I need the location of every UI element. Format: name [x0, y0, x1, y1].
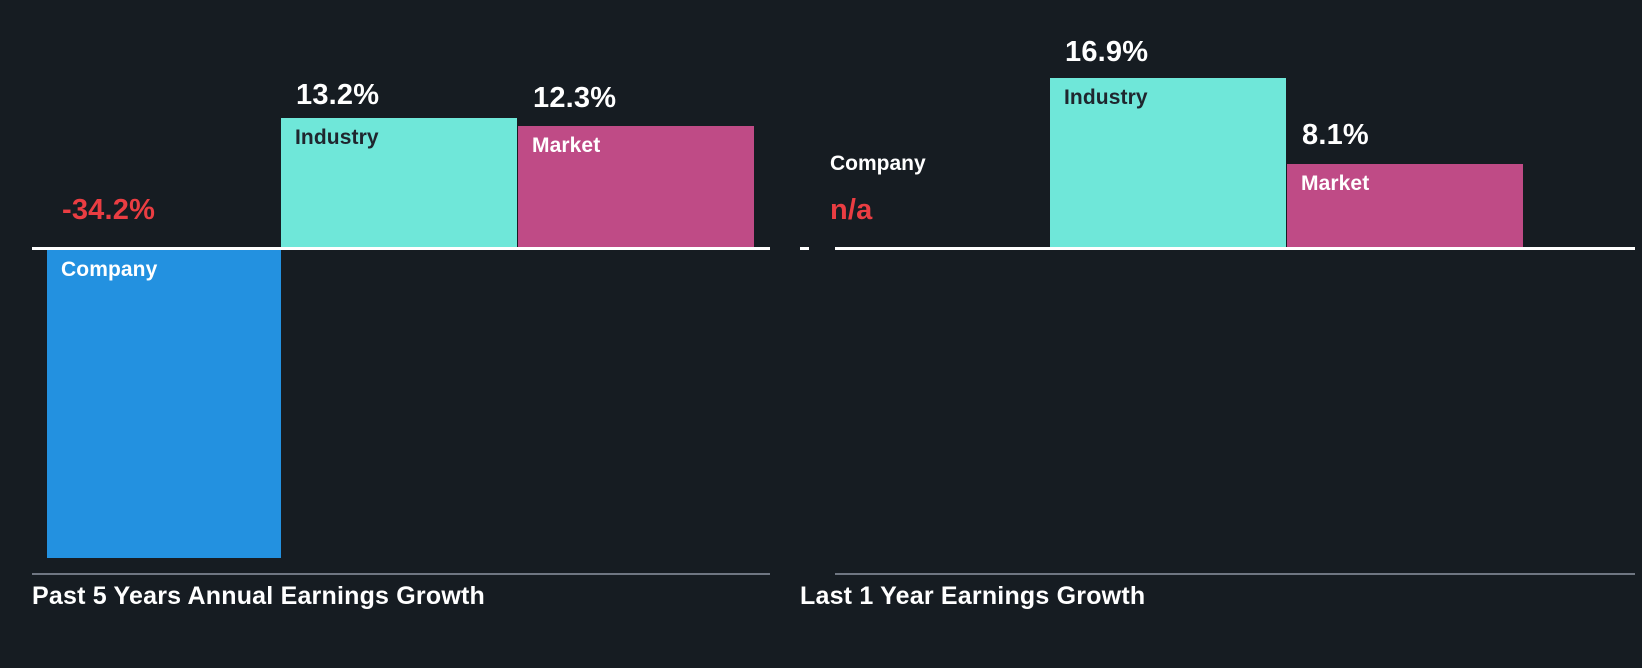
zero-baseline-tick: [800, 247, 809, 250]
bar-company[interactable]: Company: [47, 250, 281, 558]
value-label-market: 8.1%: [1302, 119, 1369, 152]
bar-market[interactable]: Market: [1287, 164, 1523, 247]
bottom-axis-line: [32, 573, 770, 575]
value-label-market: 12.3%: [533, 82, 616, 115]
bar-label-market: Market: [532, 134, 600, 158]
zero-baseline: [32, 247, 770, 250]
chart-panel-last-1-year: Company n/a 16.9% Industry 8.1% Market L…: [800, 0, 1642, 668]
bar-label-market: Market: [1301, 172, 1369, 196]
value-label-industry: 13.2%: [296, 79, 379, 112]
bar-industry[interactable]: Industry: [1050, 78, 1286, 247]
value-label-company: n/a: [830, 194, 873, 227]
bar-label-company: Company: [61, 258, 157, 282]
panel-caption-last-1-year: Last 1 Year Earnings Growth: [800, 582, 1145, 611]
bar-label-industry: Industry: [1064, 86, 1148, 110]
bar-market[interactable]: Market: [518, 126, 754, 247]
bar-industry[interactable]: Industry: [281, 118, 517, 247]
earnings-growth-chart: -34.2% Company 13.2% Industry 12.3% Mark…: [0, 0, 1642, 668]
panel-caption-past-5-years: Past 5 Years Annual Earnings Growth: [32, 582, 485, 611]
zero-baseline: [835, 247, 1635, 250]
value-label-industry: 16.9%: [1065, 36, 1148, 69]
bar-label-company: Company: [830, 152, 926, 176]
bottom-axis-line: [835, 573, 1635, 575]
chart-panel-past-5-years: -34.2% Company 13.2% Industry 12.3% Mark…: [0, 0, 800, 668]
value-label-company: -34.2%: [62, 194, 155, 227]
bar-label-industry: Industry: [295, 126, 379, 150]
